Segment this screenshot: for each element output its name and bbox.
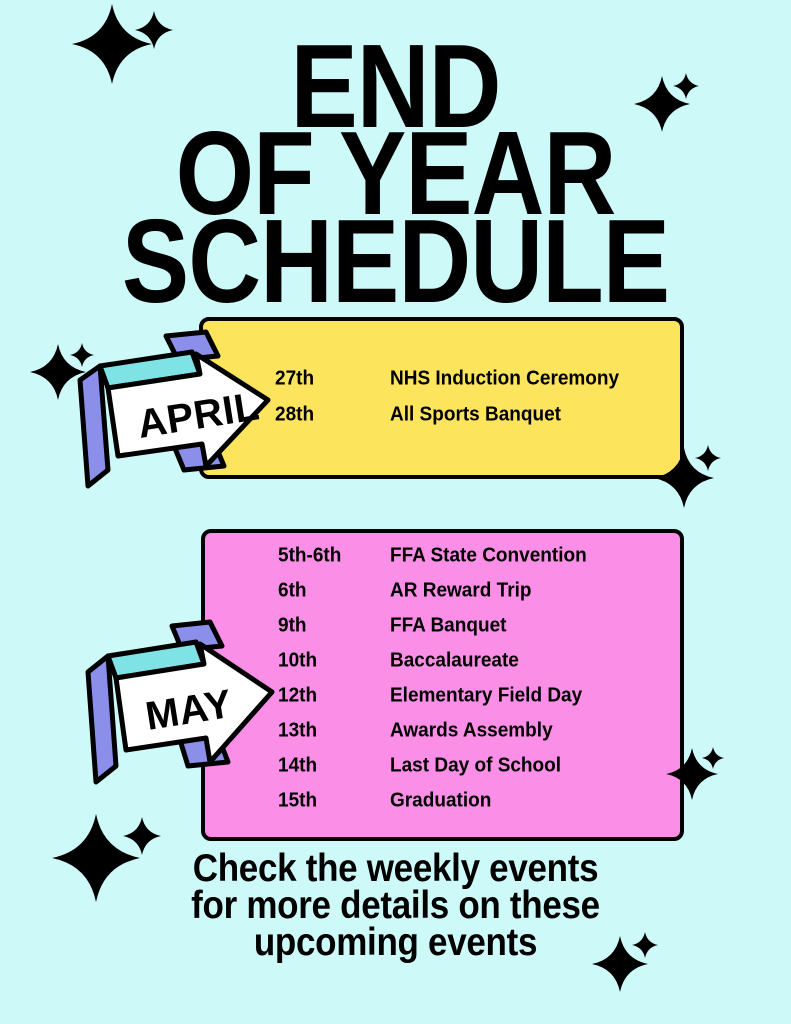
april-arrow-badge: APRIL (78, 330, 298, 510)
sparkle-april-right (624, 418, 784, 578)
april-event-list: 27thNHS Induction Ceremony28thAll Sports… (275, 368, 619, 440)
arrow-side-face (88, 656, 116, 782)
event-name: Elementary Field Day (390, 684, 582, 707)
sparkle-icon-small (695, 445, 721, 471)
page-title: END OF YEAR SCHEDULE (0, 38, 791, 300)
event-row: 28thAll Sports Banquet (275, 404, 619, 440)
footer-line-3: upcoming events (0, 922, 791, 963)
event-row: 9thFFA Banquet (278, 615, 587, 650)
event-name: Last Day of School (390, 754, 561, 777)
footer-line-1: Check the weekly events (0, 848, 791, 889)
footer-line-2: for more details on these (0, 885, 791, 926)
event-row: 27thNHS Induction Ceremony (275, 368, 619, 404)
event-name: FFA Banquet (390, 614, 506, 637)
event-row: 5th-6thFFA State Convention (278, 545, 587, 580)
event-name: NHS Induction Ceremony (390, 367, 619, 390)
event-row: 10thBaccalaureate (278, 650, 587, 685)
event-name: Graduation (390, 789, 491, 812)
footer-note: Check the weekly events for more details… (0, 848, 791, 959)
event-date: 5th-6th (278, 544, 390, 567)
event-name: Baccalaureate (390, 649, 519, 672)
event-date: 6th (278, 579, 390, 602)
event-row: 15thGraduation (278, 790, 587, 825)
poster-canvas: END OF YEAR SCHEDULE 27thNHS Induction C… (0, 0, 791, 1024)
event-name: All Sports Banquet (390, 403, 561, 426)
title-line-3: SCHEDULE (12, 213, 779, 313)
event-row: 14thLast Day of School (278, 755, 587, 790)
arrow-side-face (80, 366, 108, 486)
may-arrow-badge: MAY (86, 618, 306, 808)
event-row: 12thElementary Field Day (278, 685, 587, 720)
event-name: Awards Assembly (390, 719, 553, 742)
may-event-list: 5th-6thFFA State Convention6thAR Reward … (278, 545, 587, 825)
sparkle-icon-small (702, 747, 724, 769)
event-name: FFA State Convention (390, 544, 587, 567)
event-row: 6thAR Reward Trip (278, 580, 587, 615)
event-row: 13thAwards Assembly (278, 720, 587, 755)
event-name: AR Reward Trip (390, 579, 531, 602)
